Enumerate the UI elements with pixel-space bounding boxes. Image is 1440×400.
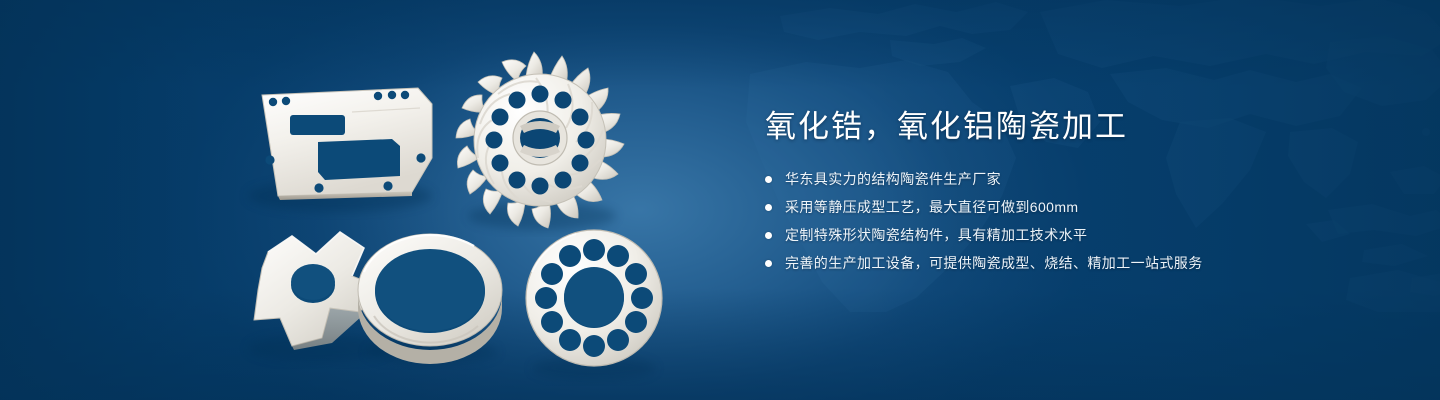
product-photo-cluster [0, 0, 720, 400]
bullet-dot-icon [765, 260, 772, 267]
feature-item: 华东具实力的结构陶瓷件生产厂家 [765, 169, 1365, 190]
bullet-dot-icon [765, 232, 772, 239]
banner-headline: 氧化锆，氧化铝陶瓷加工 [765, 108, 1365, 147]
feature-text: 华东具实力的结构陶瓷件生产厂家 [785, 169, 1001, 190]
feature-item: 采用等静压成型工艺，最大直径可做到600mm [765, 197, 1365, 218]
ceramic-impeller-disc [456, 52, 624, 230]
feature-text: 采用等静压成型工艺，最大直径可做到600mm [785, 197, 1078, 218]
bullet-dot-icon [765, 204, 772, 211]
hero-banner: 氧化锆，氧化铝陶瓷加工 华东具实力的结构陶瓷件生产厂家 采用等静压成型工艺，最大… [0, 0, 1440, 400]
ceramic-plate-with-cutouts [248, 88, 432, 212]
banner-copy: 氧化锆，氧化铝陶瓷加工 华东具实力的结构陶瓷件生产厂家 采用等静压成型工艺，最大… [765, 108, 1365, 274]
feature-item: 定制特殊形状陶瓷结构件，具有精加工技术水平 [765, 225, 1365, 246]
ceramic-perforated-disc [526, 230, 662, 380]
feature-text: 定制特殊形状陶瓷结构件，具有精加工技术水平 [785, 225, 1087, 246]
feature-item: 完善的生产加工设备，可提供陶瓷成型、烧结、精加工一站式服务 [765, 253, 1365, 274]
ceramic-ring [358, 234, 502, 364]
feature-list: 华东具实力的结构陶瓷件生产厂家 采用等静压成型工艺，最大直径可做到600mm 定… [765, 169, 1365, 274]
feature-text: 完善的生产加工设备，可提供陶瓷成型、烧结、精加工一站式服务 [785, 253, 1203, 274]
bullet-dot-icon [765, 176, 772, 183]
